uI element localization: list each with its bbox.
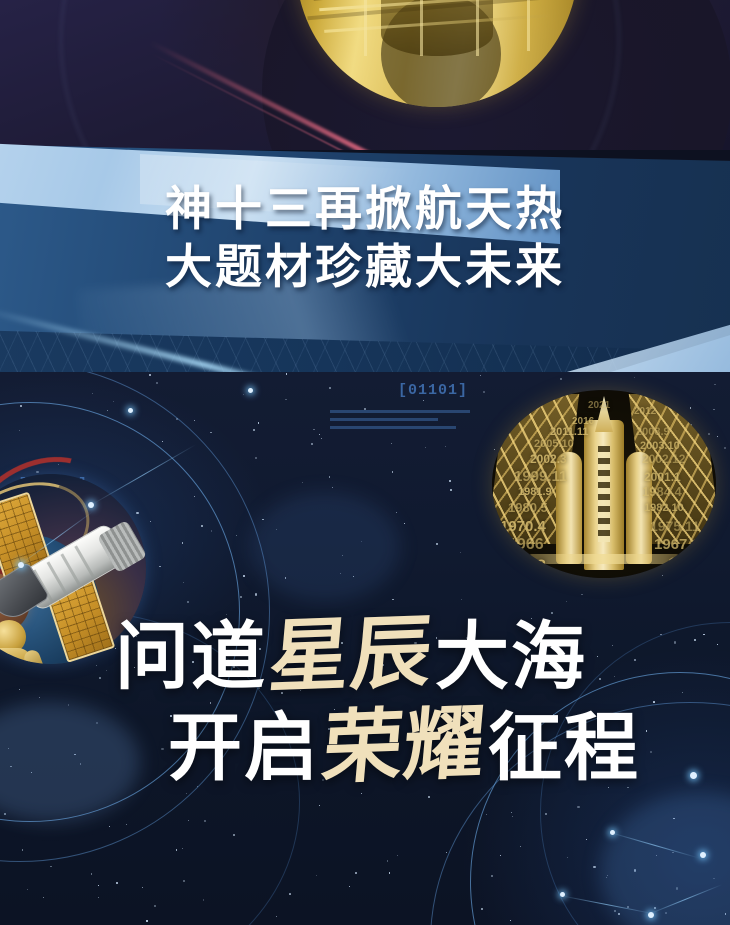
star: [423, 400, 425, 402]
star: [253, 429, 255, 431]
star: [634, 377, 635, 378]
star: [450, 489, 452, 491]
star: [313, 429, 314, 430]
star: [355, 872, 357, 874]
gantry-platform: [528, 554, 680, 564]
capsule-strut-2: [420, 0, 423, 56]
star: [302, 482, 303, 483]
hero-line1-pre: 问道: [115, 615, 267, 698]
star: [389, 872, 391, 874]
binary-tag-right: [01101]: [398, 382, 468, 399]
rocket-checker-stripe: [598, 446, 610, 542]
star: [461, 599, 462, 600]
tech-bars-right: [330, 410, 470, 434]
hero-line2-post: 征程: [488, 706, 640, 789]
star: [156, 382, 158, 384]
hero-headline: 问道星辰大海 开启荣耀征程: [0, 612, 730, 788]
star: [321, 438, 322, 439]
star: [404, 523, 405, 524]
hero-line1-gold: 星辰: [263, 609, 439, 700]
headline-line-1: 神十三再掀航天热: [165, 182, 565, 235]
rocket-booster-right: [626, 452, 652, 564]
milestone-date: 1956: [664, 576, 702, 578]
star: [319, 805, 320, 806]
star: [243, 394, 244, 395]
star: [391, 443, 392, 444]
rocket-nose-cone: [595, 396, 613, 432]
star: [566, 601, 567, 602]
hero-line-1: 问道星辰大海: [0, 612, 730, 697]
star: [289, 893, 291, 895]
hero-line1-post: 大海: [435, 615, 587, 698]
star: [210, 432, 212, 434]
star: [392, 599, 394, 601]
star: [194, 420, 195, 421]
network-node-7: [128, 408, 133, 413]
milestone-date: 0038: [492, 576, 530, 578]
network-node-3: [700, 852, 706, 858]
rocket-booster-left: [556, 452, 582, 564]
headline-line-2: 大题材珍藏大未来: [0, 238, 730, 296]
glow-flare-mid: [250, 492, 400, 602]
star: [387, 860, 388, 861]
poster-root: 神十三再掀航天热 大题材珍藏大未来 [01101] [01101]: [0, 0, 730, 925]
hero-line2-pre: 开启: [168, 706, 320, 789]
star: [286, 373, 287, 374]
hero-line2-gold: 荣耀: [316, 700, 492, 791]
star: [397, 855, 398, 856]
star: [436, 543, 437, 544]
star: [425, 447, 427, 449]
core-rib-4: [74, 545, 95, 578]
star: [319, 434, 320, 435]
star: [255, 457, 257, 459]
star: [460, 552, 461, 553]
capsule-strut-4: [527, 0, 530, 51]
star: [480, 375, 481, 376]
star: [483, 391, 485, 393]
banner-headline: 神十三再掀航天热 大题材珍藏大未来: [0, 180, 730, 296]
star: [581, 594, 583, 596]
star: [332, 487, 333, 488]
star: [349, 886, 350, 887]
star: [714, 384, 716, 386]
star: [149, 374, 151, 376]
core-rib-2: [47, 561, 68, 594]
capsule-strut-3: [476, 0, 479, 56]
star: [445, 446, 446, 447]
star: [392, 471, 393, 472]
hero-line-2: 开启荣耀征程: [0, 703, 730, 788]
star: [428, 796, 430, 798]
star: [329, 387, 331, 389]
star: [285, 399, 286, 400]
rocket-disc: 2021201220162011.112008.92005.102003.102…: [492, 390, 716, 578]
star: [316, 875, 318, 877]
rocket-launch-image: 2021201220162011.112008.92005.102003.102…: [492, 390, 728, 590]
star: [276, 916, 278, 918]
star: [396, 512, 397, 513]
network-node-8: [248, 388, 253, 393]
star: [311, 443, 313, 445]
core-rib-3: [60, 553, 81, 586]
star: [449, 480, 451, 482]
star: [329, 476, 331, 478]
capsule-strut-1: [364, 0, 367, 56]
star: [560, 378, 562, 380]
star: [258, 422, 260, 424]
